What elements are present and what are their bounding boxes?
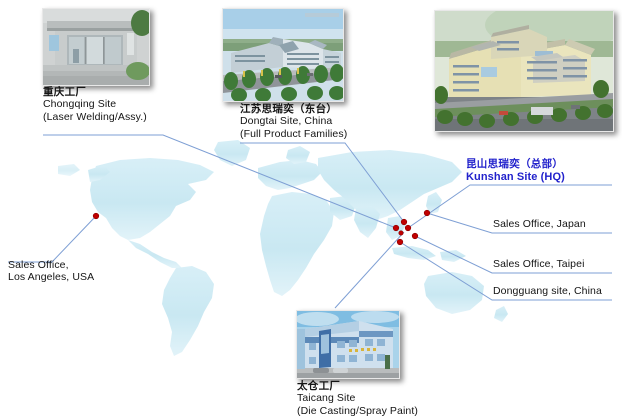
chongqing-site-photo xyxy=(42,8,150,86)
kunshan-hq-label-en: Kunshan Site (HQ) xyxy=(466,171,565,184)
kunshan-hq-label-cn: 昆山思瑞奕（总部） xyxy=(466,158,565,171)
taicang-label-detail: (Die Casting/Spray Paint) xyxy=(297,405,418,417)
connector-chongqing xyxy=(43,135,396,228)
kunshan-hq-photo xyxy=(434,10,614,132)
dongtai-label: 江苏思瑞奕（东台） Dongtai Site, China (Full Prod… xyxy=(240,103,347,140)
dongtai-label-en: Dongtai Site, China xyxy=(240,115,347,127)
office-los-angeles-line1: Sales Office, xyxy=(8,259,94,271)
chongqing-label: 重庆工厂 Chongqing Site (Laser Welding/Assy.… xyxy=(43,86,147,123)
office-japan-text: Sales Office, Japan xyxy=(493,218,586,231)
chongqing-label-cn: 重庆工厂 xyxy=(43,86,147,98)
office-los-angeles-line2: Los Angeles, USA xyxy=(8,271,94,283)
connector-los-angeles xyxy=(8,216,96,262)
office-dongguang-text: Dongguang site, China xyxy=(493,285,602,298)
marker-kunshan-hq-icon xyxy=(405,225,411,231)
office-dongguang-label: Dongguang site, China xyxy=(493,285,602,298)
marker-dongtai-icon xyxy=(401,219,407,225)
marker-taicang-icon xyxy=(399,231,403,235)
marker-japan-icon xyxy=(424,210,430,216)
marker-taipei-icon xyxy=(412,233,418,239)
kunshan-hq-label: 昆山思瑞奕（总部） Kunshan Site (HQ) xyxy=(466,158,565,184)
chongqing-label-detail: (Laser Welding/Assy.) xyxy=(43,111,147,123)
landmasses xyxy=(58,140,508,356)
office-los-angeles-label: Sales Office, Los Angeles, USA xyxy=(8,259,94,284)
marker-chongqing-icon xyxy=(393,225,399,231)
marker-dongguang-icon xyxy=(397,239,403,245)
marker-los-angeles-icon xyxy=(93,213,99,219)
site-map-canvas: 重庆工厂 Chongqing Site (Laser Welding/Assy.… xyxy=(0,0,622,418)
taicang-label-en: Taicang Site xyxy=(297,392,418,404)
dongtai-label-detail: (Full Product Families) xyxy=(240,128,347,140)
office-taipei-text: Sales Office, Taipei xyxy=(493,258,585,271)
dongtai-site-photo xyxy=(222,8,344,102)
taicang-label-cn: 太仓工厂 xyxy=(297,380,418,392)
office-japan-label: Sales Office, Japan xyxy=(493,218,586,231)
taicang-label: 太仓工厂 Taicang Site (Die Casting/Spray Pai… xyxy=(297,380,418,417)
office-taipei-label: Sales Office, Taipei xyxy=(493,258,585,271)
connector-dongtai xyxy=(240,143,404,222)
dongtai-label-cn: 江苏思瑞奕（东台） xyxy=(240,103,347,115)
connector-taicang xyxy=(335,232,404,308)
taicang-site-photo xyxy=(296,310,400,379)
chongqing-label-en: Chongqing Site xyxy=(43,98,147,110)
